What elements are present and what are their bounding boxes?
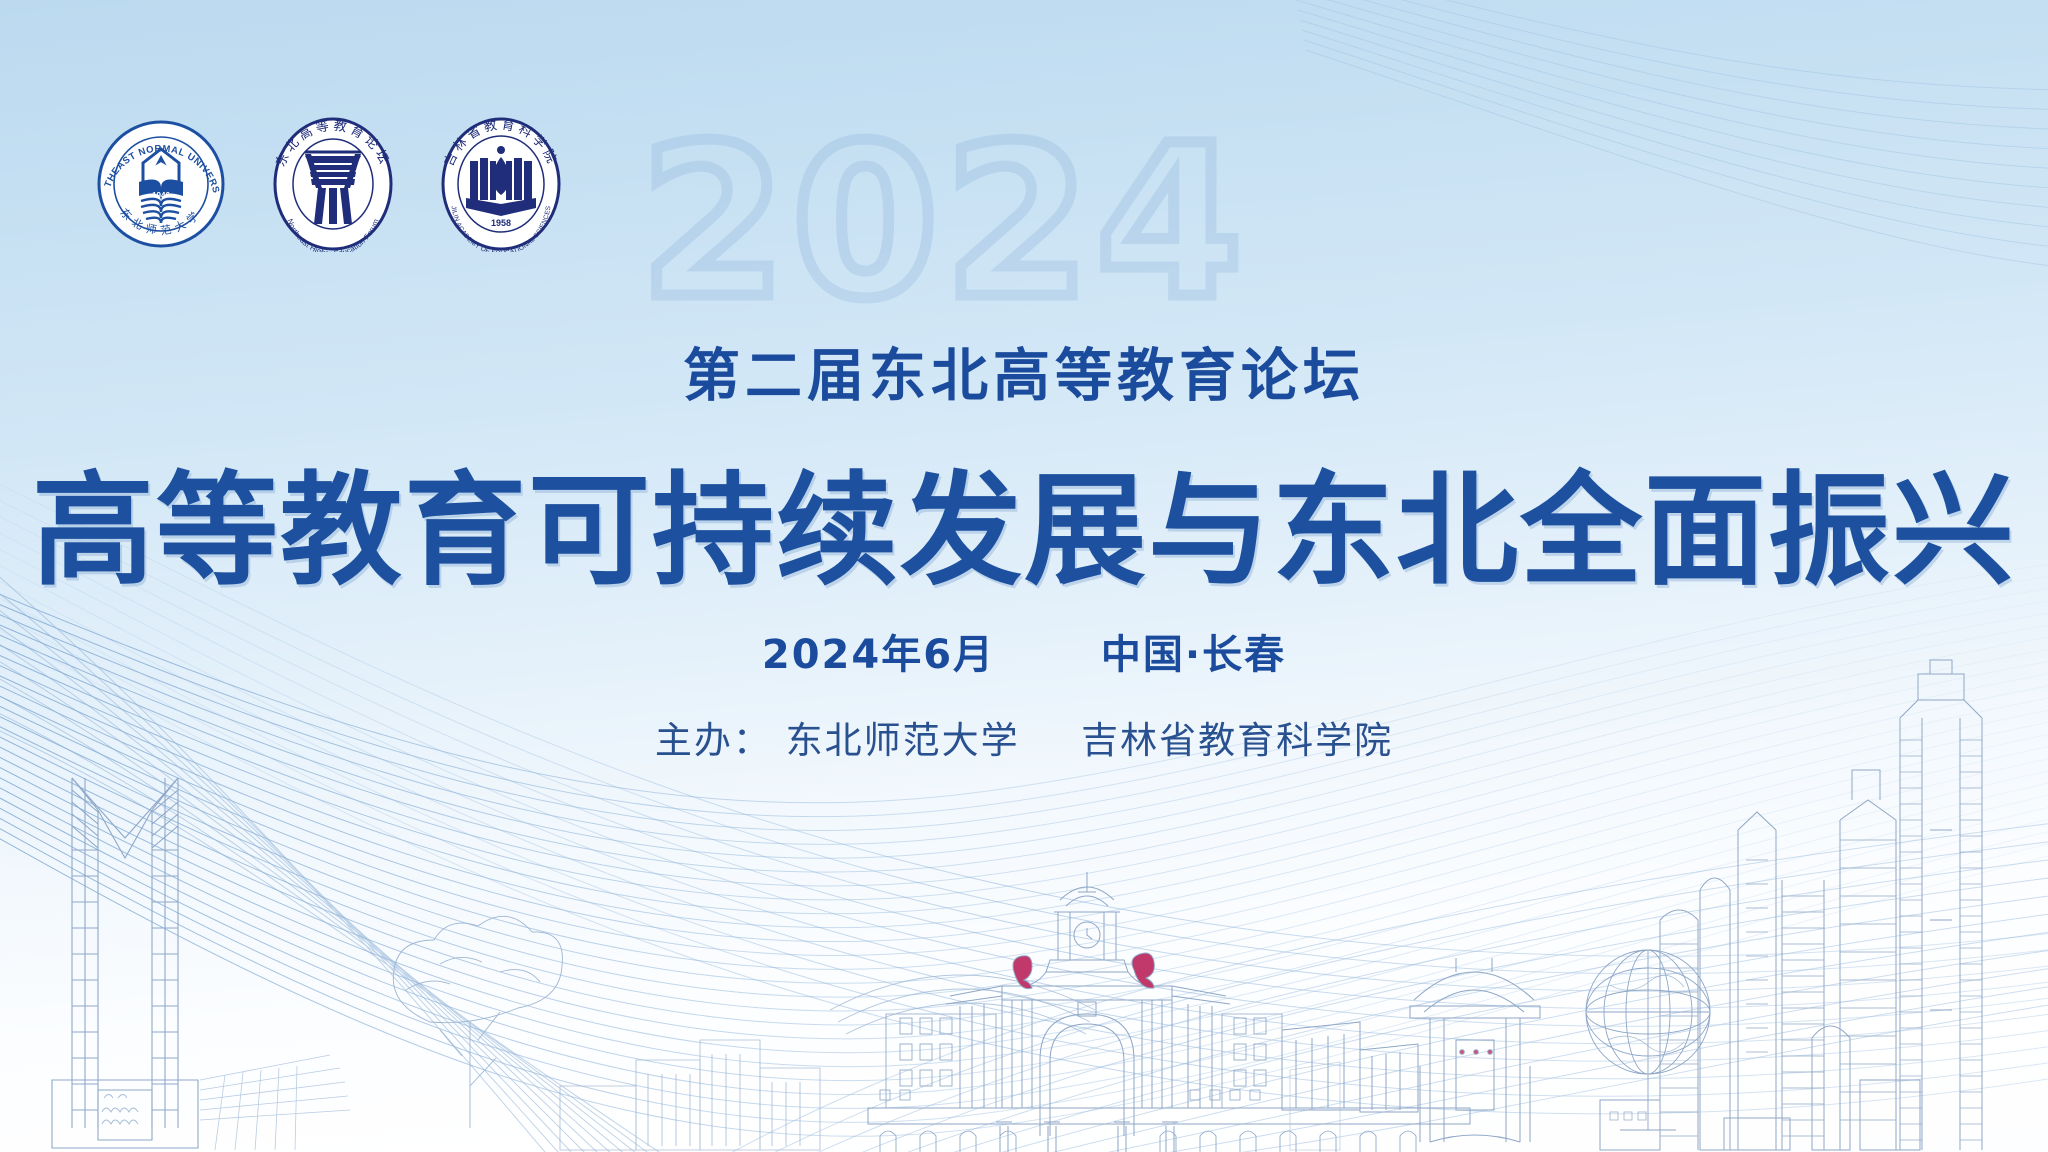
event-meta: 2024年6月 中国·长春 <box>0 622 2048 680</box>
traditional-gate <box>1410 958 1540 1142</box>
forum-headline: 高等教育可持续发展与东北全面振兴 <box>0 432 2048 609</box>
event-hosts: 主办： 东北师范大学 吉林省教育科学院 <box>0 710 2048 764</box>
event-date: 2024年6月 <box>762 632 995 678</box>
background-buildings <box>560 1040 1340 1150</box>
university-main-building <box>868 872 1470 1152</box>
conference-banner: 2024 NORTHEAST NORMAL UNIVERSITY 东北师范大学 <box>0 0 2048 1152</box>
monument-tower <box>52 778 350 1150</box>
tree <box>393 916 562 1128</box>
hosts-prefix: 主办： <box>655 719 772 762</box>
host-one: 东北师范大学 <box>786 719 1020 762</box>
landmark-characters <box>1013 953 1154 989</box>
globe-sculpture <box>1586 950 1710 1130</box>
forum-subtitle: 第二届东北高等教育论坛 <box>0 330 2048 412</box>
logo-northeast-higher-education-forum: 东北高等教育论坛 Northeast Higher Education Foru… <box>272 116 394 252</box>
year-watermark: 2024 <box>640 118 1248 328</box>
dome-structure <box>830 975 1095 1034</box>
host-two: 吉林省教育科学院 <box>1081 719 1393 762</box>
logo-northeast-normal-university: NORTHEAST NORMAL UNIVERSITY 东北师范大学 1946 <box>96 119 226 249</box>
logo-jilin-academy-of-educational-sciences: 吉林省教育科学院 JILIN ACADEMY OF EDUCATIONAL SC… <box>440 116 562 252</box>
event-location: 中国·长春 <box>1101 632 1286 678</box>
svg-text:1958: 1958 <box>491 218 511 228</box>
organizer-logos: NORTHEAST NORMAL UNIVERSITY 东北师范大学 1946 <box>96 116 562 252</box>
